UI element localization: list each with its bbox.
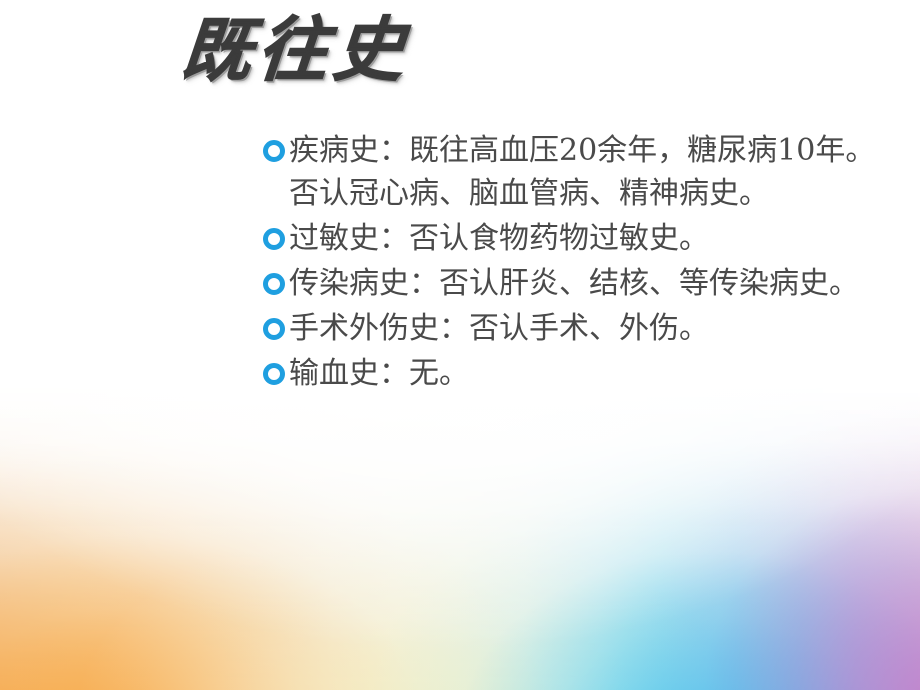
bullet-text: 疾病史：既往高血压20余年，糖尿病10年。否认冠心病、脑血管病、精神病史。 [289,133,875,211]
list-item: 疾病史：既往高血压20余年，糖尿病10年。否认冠心病、脑血管病、精神病史。 [262,129,898,215]
slide-title: 既往史 [178,8,413,92]
presentation-slide: 既往史 疾病史：既往高血压20余年，糖尿病10年。否认冠心病、脑血管病、精神病史… [0,0,920,690]
bullet-text: 输血史：无。 [289,356,469,391]
list-item: 过敏史：否认食物药物过敏史。 [262,217,898,260]
bullet-text: 传染病史：否认肝炎、结核、等传染病史。 [289,266,859,301]
list-item: 手术外伤史：否认手术、外伤。 [262,307,898,350]
list-item: 传染病史：否认肝炎、结核、等传染病史。 [262,262,898,305]
list-item: 输血史：无。 [262,352,898,395]
bullet-text: 过敏史：否认食物药物过敏史。 [289,221,709,256]
bullet-text: 手术外伤史：否认手术、外伤。 [289,311,709,346]
bullet-list: 疾病史：既往高血压20余年，糖尿病10年。否认冠心病、脑血管病、精神病史。 过敏… [262,129,898,397]
